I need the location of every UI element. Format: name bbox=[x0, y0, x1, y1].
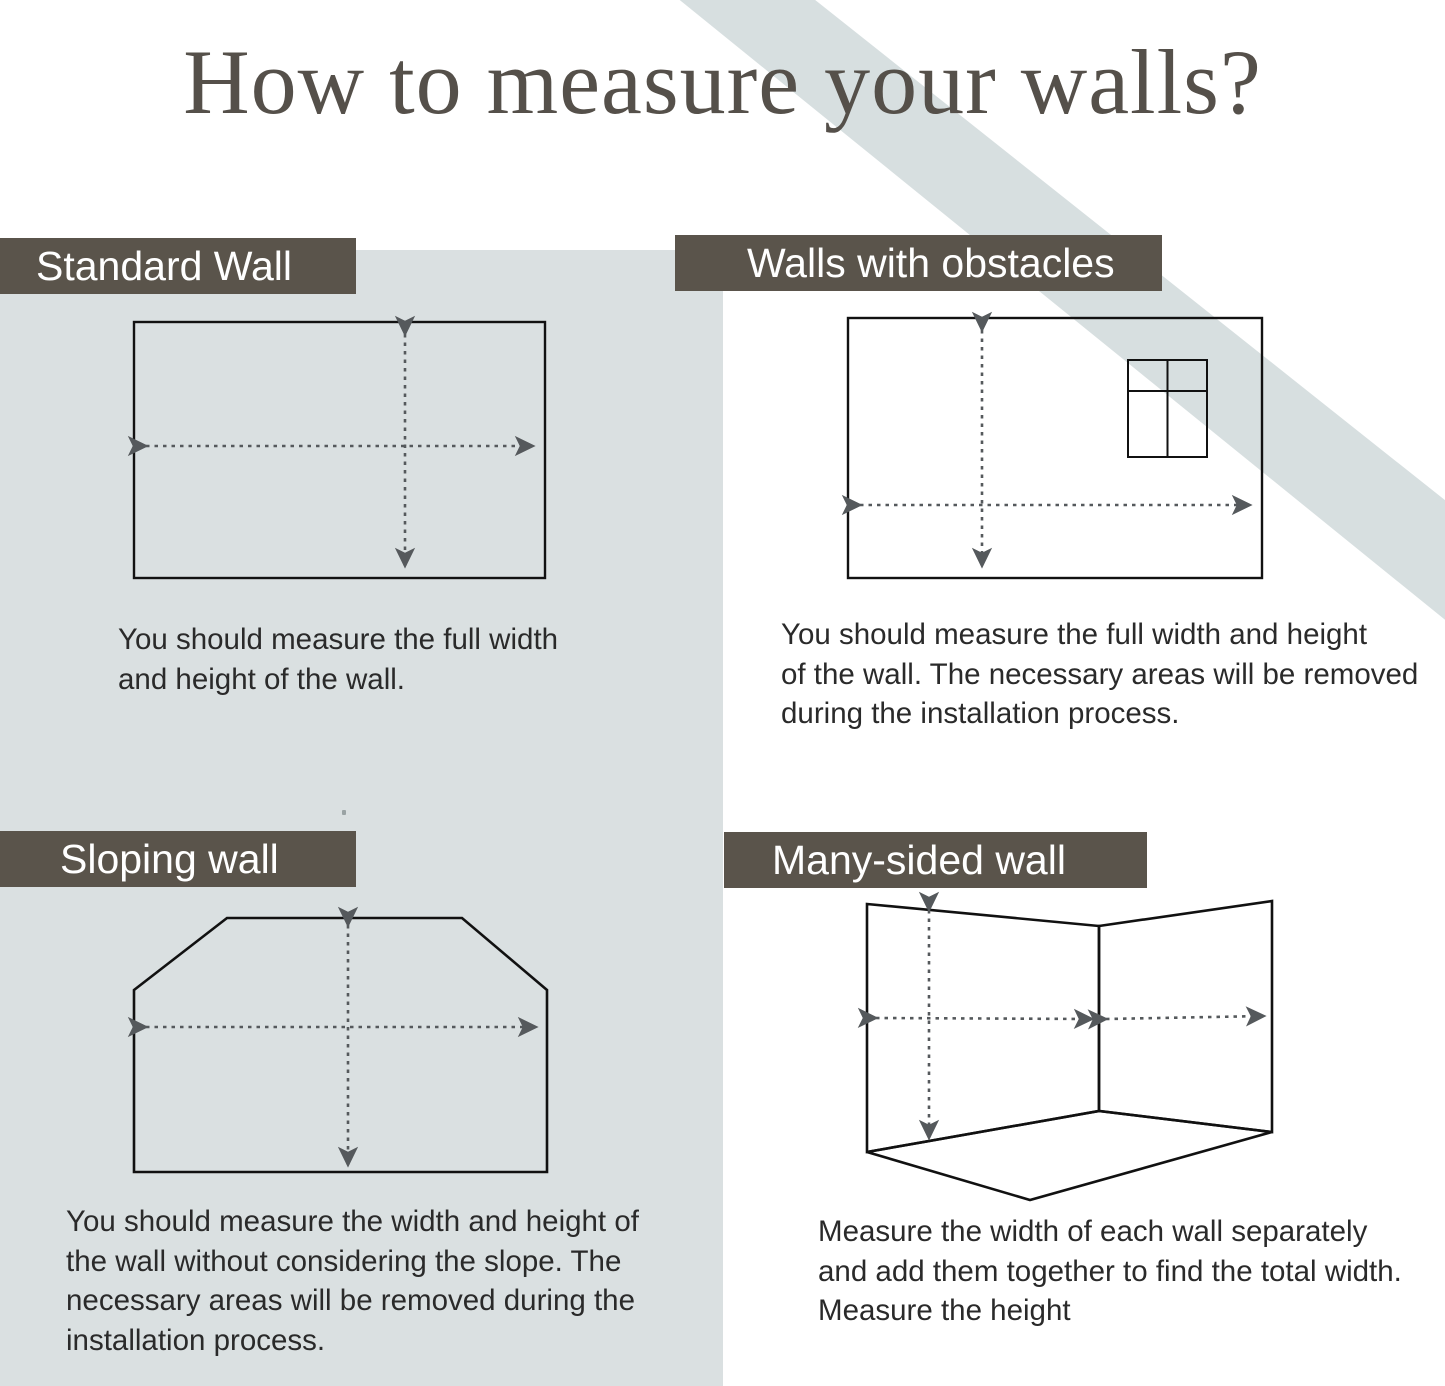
caption-many-sided-wall: Measure the width of each wall separatel… bbox=[818, 1212, 1418, 1331]
caption-standard-wall: You should measure the full width and he… bbox=[118, 620, 678, 699]
section-header-label: Many-sided wall bbox=[772, 840, 1066, 881]
caption-sloping-wall: You should measure the width and height … bbox=[66, 1202, 666, 1360]
walls-with-obstacles-diagram bbox=[830, 300, 1290, 600]
page-title: How to measure your walls? bbox=[0, 36, 1445, 128]
sloping-wall-diagram bbox=[120, 895, 570, 1195]
section-header-label: Walls with obstacles bbox=[747, 243, 1115, 284]
section-header-sloping-wall: Sloping wall bbox=[0, 831, 356, 887]
section-header-standard-wall: Standard Wall bbox=[0, 238, 356, 294]
section-header-label: Standard Wall bbox=[36, 246, 292, 287]
page-artifact-speck bbox=[342, 810, 346, 815]
caption-walls-with-obstacles: You should measure the full width and he… bbox=[781, 615, 1421, 734]
many-sided-wall-diagram bbox=[840, 880, 1310, 1230]
section-header-label: Sloping wall bbox=[60, 839, 279, 880]
section-header-walls-with-obstacles: Walls with obstacles bbox=[675, 235, 1162, 291]
infographic-page: How to measure your walls? Standard Wall… bbox=[0, 0, 1445, 1386]
window-obstacle-icon bbox=[1128, 360, 1207, 457]
standard-wall-diagram bbox=[120, 300, 570, 600]
